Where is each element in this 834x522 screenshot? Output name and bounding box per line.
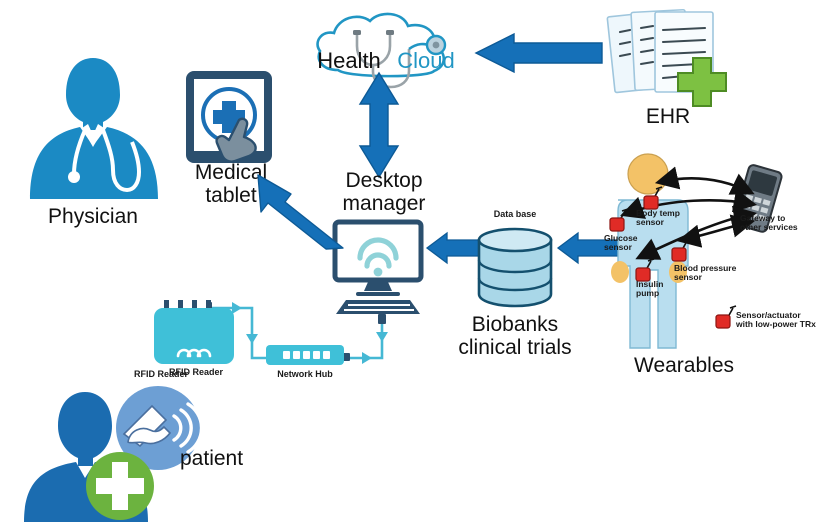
cloud-label: Cloud [388, 49, 464, 73]
database-node: Data base Biobanks clinical trials [476, 228, 554, 308]
rfid-reader-icon [152, 300, 240, 368]
health-label: Health [314, 49, 384, 73]
wearables-label: Wearables [594, 355, 774, 378]
arrow-desktop-to-tablet [247, 170, 347, 252]
legend-sensor-actuator: Sensor/actuator with low-power TRx [712, 303, 834, 339]
patient-node: RFID Reader patient [8, 378, 268, 522]
rfid-reader-node: RFID Reader [152, 300, 240, 380]
glucose-sensor-label: Glucose sensor [604, 234, 668, 252]
network-hub-label: Network Hub [255, 370, 355, 380]
patient-label: patient [180, 448, 270, 471]
arrow-ehr-to-cloud [474, 33, 602, 73]
gateway-label: Gateway to other services [740, 214, 832, 232]
arrow-cloud-desktop [358, 72, 400, 178]
physician-label: Physician [8, 206, 178, 229]
network-hub-node: Network Hub [265, 344, 345, 386]
physician-node: Physician [8, 34, 178, 209]
medical-tablet-node: Medical tablet [183, 68, 279, 168]
body-temp-sensor-label: Body temp sensor [636, 209, 706, 227]
medical-tablet-icon [183, 68, 279, 168]
ehr-documents-icon [607, 6, 737, 106]
biobanks-label: Biobanks clinical trials [434, 314, 596, 359]
insulin-pump-label: Insulin pump [636, 280, 692, 298]
database-label: Data base [470, 210, 560, 220]
network-hub-icon [265, 344, 345, 366]
legend-label: Sensor/actuator with low-power TRx [736, 311, 834, 329]
database-cylinder-icon [476, 228, 554, 308]
physician-silhouette-icon [8, 34, 178, 209]
ehr-label: EHR [603, 106, 733, 129]
patient-rfid-badge-label: RFID Reader [113, 370, 209, 380]
ehr-node: EHR [607, 6, 737, 106]
